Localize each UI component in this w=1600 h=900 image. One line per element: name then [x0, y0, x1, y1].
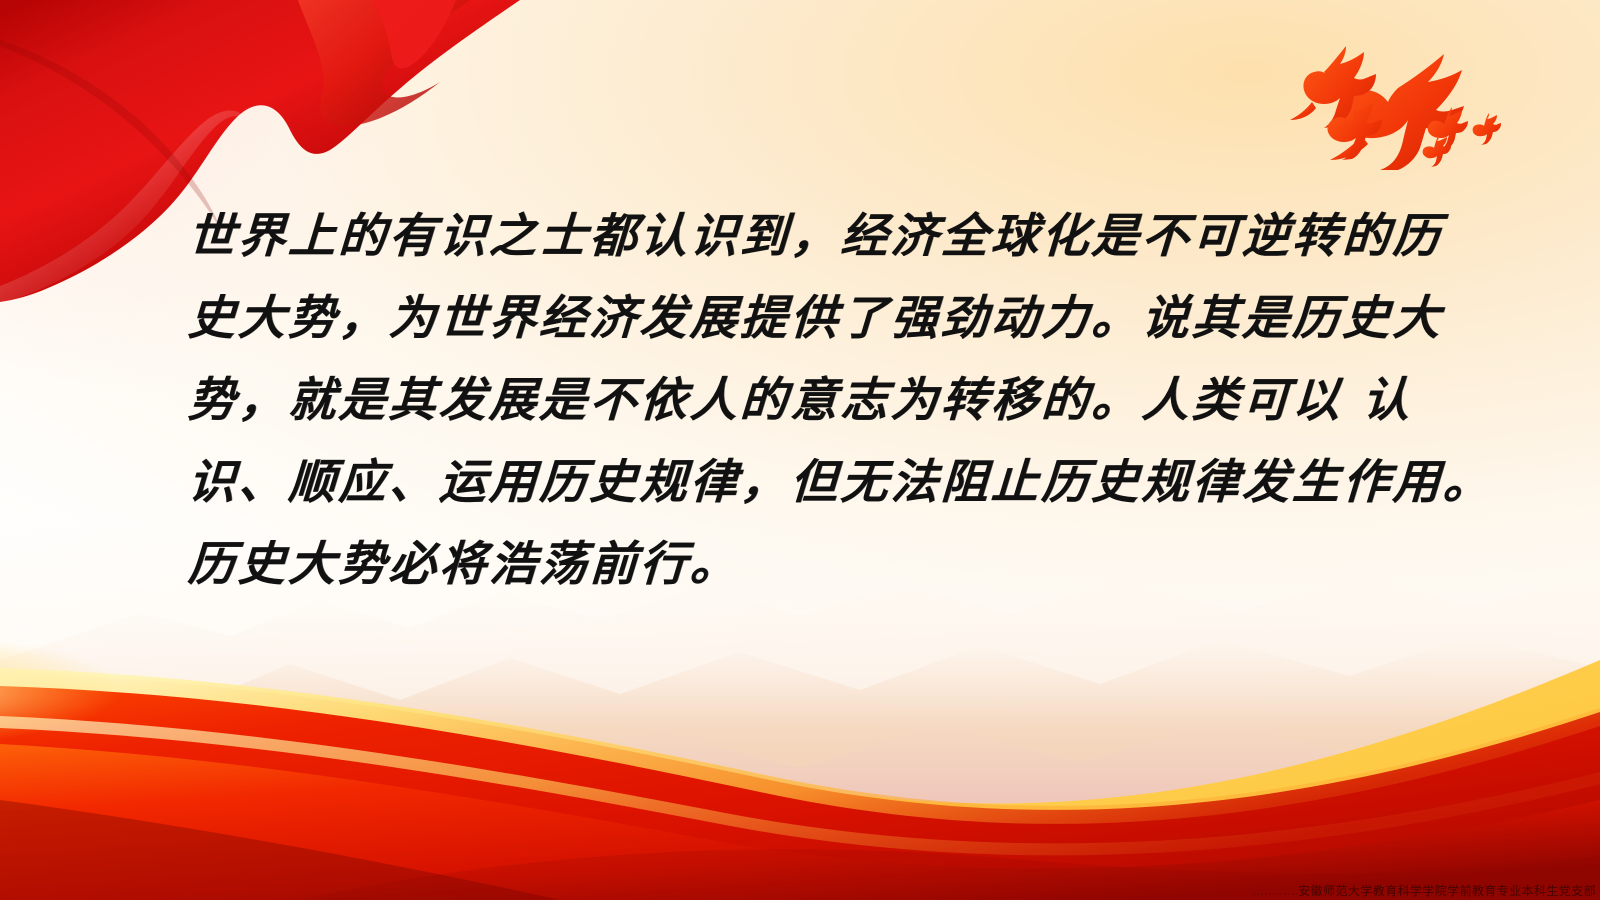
quote-line: 识、顺应、运用历史规律，但无法阻止历史规律发生作用。 [186, 442, 1370, 524]
footer-credit: ............安徽师范大学教育科学学院学前教育专业本科生党支部 [1253, 884, 1596, 898]
quote-line: 历史大势必将浩荡前行。 [186, 524, 1370, 606]
footer-credit-text: 安徽师范大学教育科学学院学前教育专业本科生党支部 [1298, 884, 1596, 898]
quote-line: 史大势，为世界经济发展提供了强劲动力。说其是历史大 [186, 278, 1370, 360]
quote-text-block: 世界上的有识之士都认识到，经济全球化是不可逆转的历 史大势，为世界经济发展提供了… [188, 196, 1368, 606]
slide-canvas: 世界上的有识之士都认识到，经济全球化是不可逆转的历 史大势，为世界经济发展提供了… [0, 0, 1600, 900]
quote-line: 势，就是其发展是不依人的意志为转移的。人类可以 认 [186, 360, 1370, 442]
footer-dots: ............ [1253, 884, 1299, 898]
quote-line: 世界上的有识之士都认识到，经济全球化是不可逆转的历 [186, 196, 1370, 278]
